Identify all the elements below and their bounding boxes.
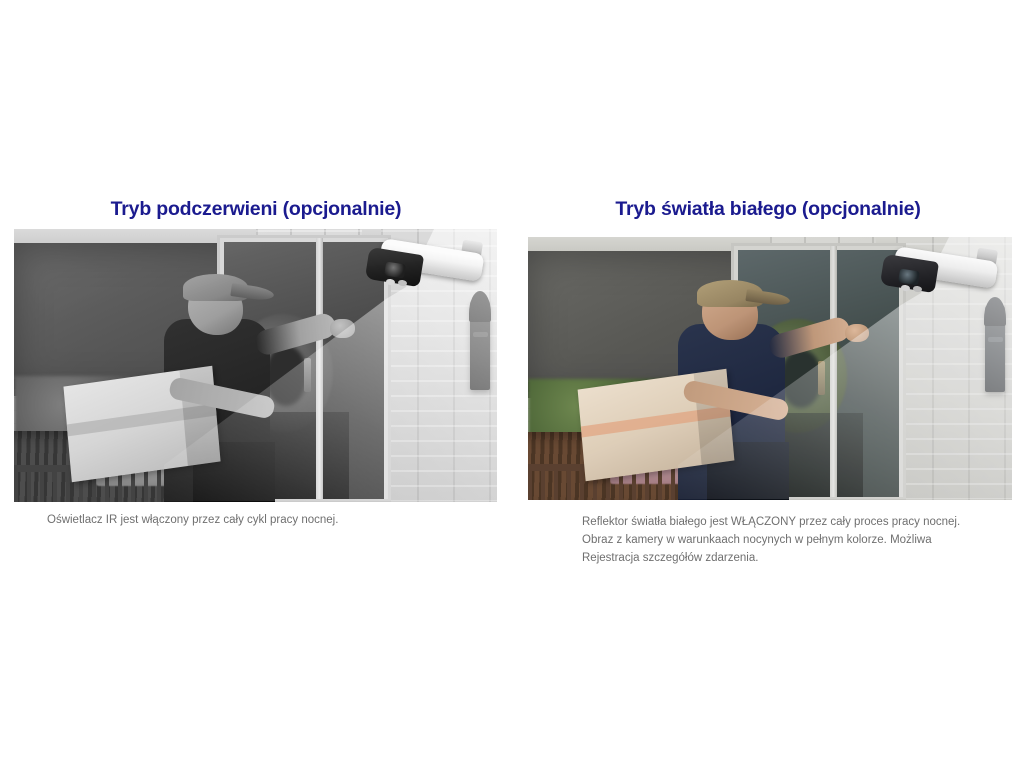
person-fist	[330, 319, 354, 338]
camera-lens	[898, 268, 920, 285]
panel-title-infrared: Tryb podczerwieni (opcjonalnie)	[0, 198, 512, 221]
scene-white-light	[528, 237, 1012, 500]
camera-led-left	[900, 285, 910, 292]
camera-led-right	[913, 286, 923, 293]
camera-lens	[384, 261, 406, 278]
scene-infrared	[14, 229, 497, 502]
panel-title-white-light: Tryb światła białego (opcjonalnie)	[512, 198, 1024, 221]
camera-led-right	[398, 280, 408, 287]
panel-infrared-mode: Tryb podczerwieni (opcjonalnie)	[0, 0, 512, 768]
person-fist	[845, 324, 869, 342]
photo-white-light-mode	[528, 237, 1012, 500]
panel-white-light-mode: Tryb światła białego (opcjonalnie)	[512, 0, 1024, 768]
bullet-camera	[872, 248, 998, 301]
caption-infrared: Oświetlacz IR jest włączony przez cały c…	[47, 512, 467, 530]
camera-led-left	[385, 279, 395, 286]
person-knocking-arm	[767, 315, 853, 360]
bullet-camera	[357, 240, 483, 295]
caption-white-light: Reflektor światła białego jest WŁĄCZONY …	[582, 514, 972, 567]
photo-infrared-mode	[14, 229, 497, 502]
person-knocking-arm	[252, 311, 338, 357]
